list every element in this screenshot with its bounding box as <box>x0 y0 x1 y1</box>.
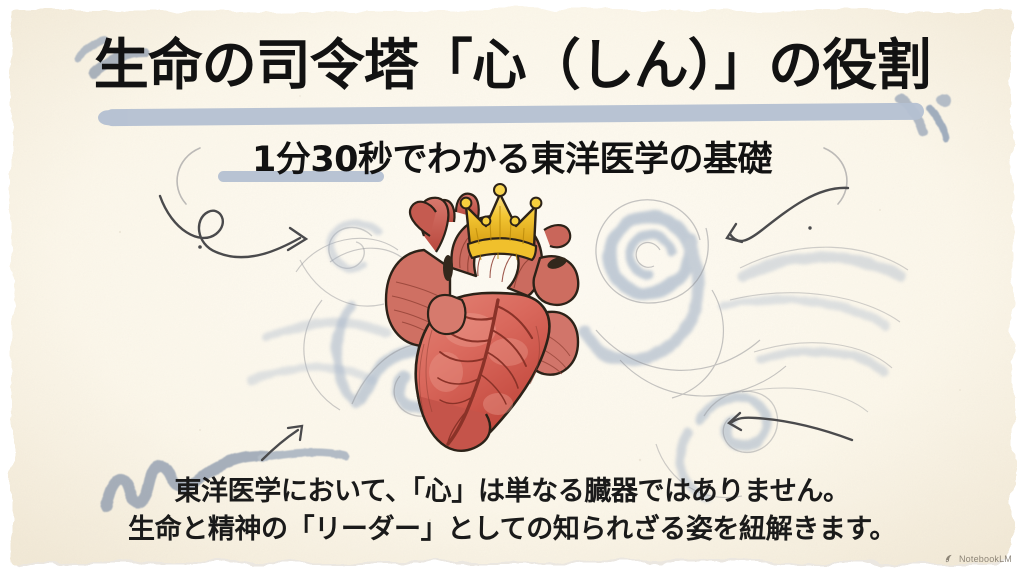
caption-line-2: 生命と精神の「リーダー」としての知られざる姿を紐解きます。 <box>0 511 1024 549</box>
caption-block: 東洋医学において、「心」は単なる臓器ではありません。 生命と精神の「リーダー」と… <box>0 473 1024 549</box>
notebooklm-watermark: NotebookLM <box>944 553 1012 564</box>
caption-line-1: 東洋医学において、「心」は単なる臓器ではありません。 <box>0 473 1024 511</box>
watermark-label: NotebookLM <box>959 554 1012 564</box>
text-layer: 生命の司令塔「心（しん）」の役割 1分30秒でわかる東洋医学の基礎 東洋医学にお… <box>0 0 1024 572</box>
page-subtitle: 1分30秒でわかる東洋医学の基礎 <box>0 131 1024 182</box>
slide-canvas: 生命の司令塔「心（しん）」の役割 1分30秒でわかる東洋医学の基礎 東洋医学にお… <box>0 0 1024 572</box>
notebooklm-logo-icon <box>944 553 955 564</box>
page-title: 生命の司令塔「心（しん）」の役割 <box>0 34 1024 98</box>
title-underline-highlight <box>104 103 924 126</box>
